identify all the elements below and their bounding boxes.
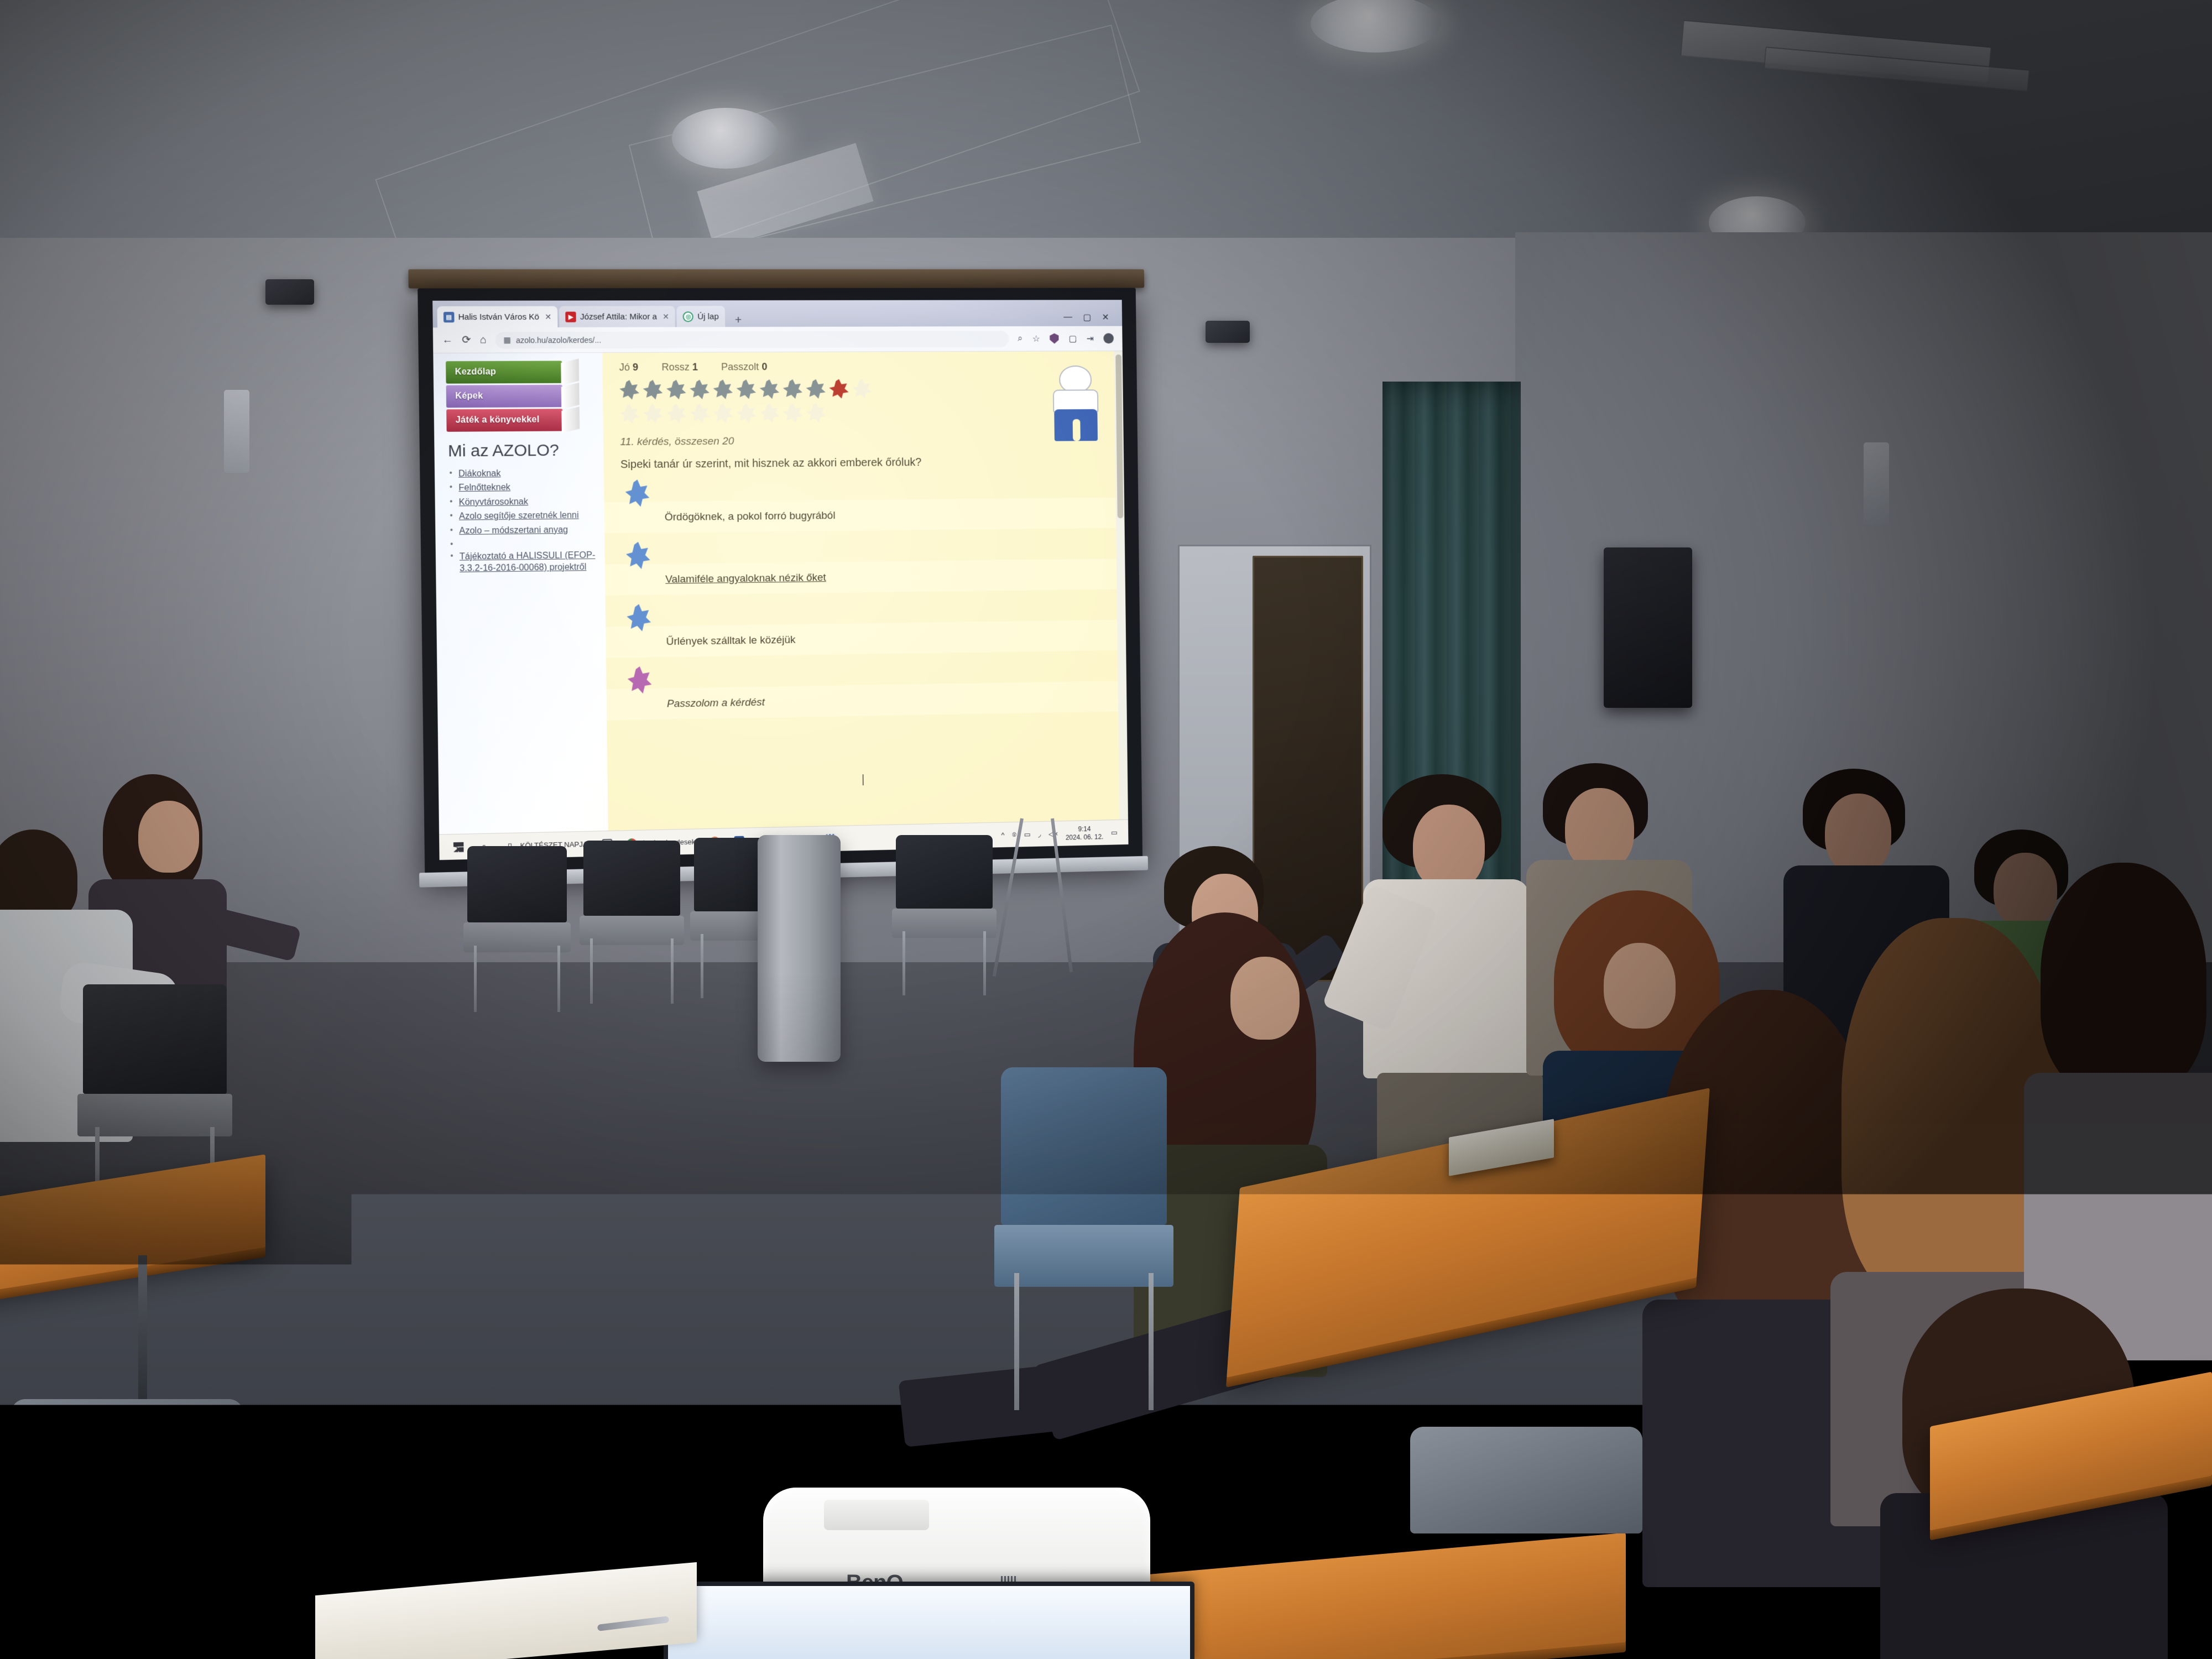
empty-chair[interactable] <box>896 835 993 995</box>
tab-title: Halis István Város Kö <box>458 312 540 321</box>
table-leg <box>138 1255 147 1399</box>
answer-text: Űrlények szálltak le közéjük <box>666 634 795 648</box>
book-stack-logo: Kezdőlap Képek Játék a könyvekkel <box>446 361 581 433</box>
list-item: Diákoknak <box>447 468 596 481</box>
progress-peg-good <box>690 380 710 400</box>
wall-sconce <box>1864 442 1889 525</box>
projection-screen: ▤ Halis István Város Kö ✕ ▶ József Attil… <box>418 279 1143 896</box>
answer-option-2[interactable]: Valamiféle angyaloknak nézik őket <box>622 535 1109 602</box>
close-icon[interactable]: ✕ <box>662 312 669 321</box>
list-item: Könyvtárosoknak <box>447 496 596 509</box>
score-passed: Passzolt 0 <box>721 361 767 373</box>
progress-peg-none <box>620 404 640 424</box>
projector-vent <box>824 1500 929 1530</box>
laptop-screen <box>664 1582 1194 1659</box>
question-counter: 11. kérdés, összesen 20 <box>620 433 1107 448</box>
wall-projector-mount <box>265 279 314 305</box>
sidebar-link[interactable]: Azolo segítője szeretnék lenni <box>459 511 579 521</box>
close-button[interactable]: ✕ <box>1102 312 1109 323</box>
bluetooth-icon[interactable]: ⌾ <box>1012 830 1016 839</box>
progress-peg-good <box>713 379 733 399</box>
nav-kezdolap[interactable]: Kezdőlap <box>446 361 562 383</box>
mascot-illustration <box>1045 366 1105 442</box>
tab-title: József Attila: Mikor a <box>580 312 657 321</box>
nav-label: Képek <box>455 392 483 401</box>
list-item: Felnőtteknek <box>447 482 596 494</box>
sidebar-link-project[interactable]: Tájékoztató a HALISSULI (EFOP-3.3.2-16-2… <box>460 551 596 573</box>
browser-tab-1[interactable]: ▤ Halis István Város Kö ✕ <box>437 306 557 328</box>
score-bad: Rossz 1 <box>661 362 698 373</box>
spacer <box>448 539 597 549</box>
chair-foreground-left[interactable] <box>11 1399 243 1659</box>
progress-peg-none <box>690 404 711 424</box>
new-tab-icon: ◎ <box>683 311 693 322</box>
progress-peg-none <box>806 403 826 423</box>
progress-peg-none <box>713 403 734 423</box>
wall-sconce <box>224 390 249 473</box>
scrollbar-thumb[interactable] <box>1115 354 1123 518</box>
window-controls: — ▢ ✕ <box>1063 312 1118 326</box>
bookmark-star-icon[interactable]: ☆ <box>1032 333 1040 344</box>
tab-title: Új lap <box>697 312 719 321</box>
score-passed-value: 0 <box>761 361 767 372</box>
quiz-panel: Jó 9 Rossz 1 Passzolt 0 <box>602 351 1128 831</box>
progress-peg-good <box>666 380 687 400</box>
wall-projector-mount <box>1206 321 1250 343</box>
text-cursor-icon <box>863 774 864 785</box>
collections-icon[interactable]: ▢ <box>1068 333 1077 344</box>
ceiling-light <box>672 108 780 169</box>
door-panel <box>1253 556 1363 982</box>
sidebar-heading: Mi az AZOLO? <box>448 441 596 461</box>
progress-peg-none <box>760 403 780 423</box>
reload-icon[interactable]: ⟳ <box>462 333 471 346</box>
projected-desktop: ▤ Halis István Város Kö ✕ ▶ József Attil… <box>432 300 1128 860</box>
score-good: Jó 9 <box>619 362 639 373</box>
mascot-head <box>1059 366 1092 393</box>
classroom-scene: ▤ Halis István Város Kö ✕ ▶ József Attil… <box>0 0 2212 1659</box>
answer-option-1[interactable]: Ördögöknek, a pokol forró bugyrából <box>620 473 1108 540</box>
answer-text: Ördögöknek, a pokol forró bugyrából <box>665 510 836 524</box>
list-item: Tájékoztató a HALISSULI (EFOP-3.3.2-16-2… <box>448 550 597 575</box>
screen-valance <box>408 269 1144 289</box>
shield-icon[interactable] <box>1050 333 1059 344</box>
taskbar-clock[interactable]: 9:14 2024. 06. 12. <box>1066 825 1104 841</box>
book-page-edge <box>561 359 579 385</box>
clock-time: 9:14 <box>1078 825 1091 833</box>
progress-peg-good <box>760 379 780 399</box>
new-tab-button[interactable]: + <box>730 314 747 327</box>
wifi-icon[interactable]: ◞ <box>1038 830 1041 838</box>
browser-tab-3[interactable]: ◎ Új lap <box>677 306 725 327</box>
profile-icon[interactable] <box>1103 333 1114 343</box>
progress-peg-none <box>852 379 872 399</box>
site-info-icon: ▦ <box>503 335 511 345</box>
sidebar-link[interactable]: Diákoknak <box>458 469 501 479</box>
share-icon[interactable]: ⇥ <box>1087 333 1094 344</box>
book-page-edge <box>561 383 580 409</box>
sidebar-link[interactable]: Azolo – módszertani anyag <box>459 525 568 536</box>
site-sidebar: Kezdőlap Képek Játék a könyvekkel <box>433 353 608 834</box>
book-page-edge <box>561 406 580 433</box>
empty-chair[interactable] <box>583 841 680 1004</box>
back-icon[interactable]: ← <box>442 334 453 346</box>
youtube-icon: ▶ <box>565 311 576 322</box>
progress-peg-none <box>737 403 757 423</box>
nav-label: Játék a könyvekkel <box>456 415 540 425</box>
browser-tab-2[interactable]: ▶ József Attila: Mikor a ✕ <box>559 306 675 327</box>
nav-kepek[interactable]: Képek <box>446 385 563 408</box>
progress-peg-good <box>619 380 640 400</box>
progress-peg-none <box>666 404 687 424</box>
progress-peg-row <box>619 379 880 424</box>
zoom-icon[interactable]: ⌕ <box>1018 333 1022 343</box>
browser-toolbar: ⌕ ☆ ▢ ⇥ <box>1018 333 1114 344</box>
windows-logo-icon <box>453 842 464 852</box>
maximize-button[interactable]: ▢ <box>1083 312 1091 323</box>
webpage-body: Kezdőlap Képek Játék a könyvekkel <box>433 351 1128 834</box>
document-icon: ▤ <box>444 311 455 322</box>
home-icon[interactable]: ⌂ <box>480 334 487 346</box>
room-column <box>758 835 841 1062</box>
minimize-button[interactable]: — <box>1063 312 1072 322</box>
nav-label: Kezdőlap <box>455 367 497 378</box>
answer-text: Passzolom a kérdést <box>667 697 765 711</box>
chevron-up-icon[interactable]: ^ <box>1001 831 1004 839</box>
address-bar[interactable]: ▦ azolo.hu/azolo/kerdes/... <box>495 330 1009 348</box>
score-bar: Jó 9 Rossz 1 Passzolt 0 <box>619 360 1107 373</box>
progress-peg-good <box>643 380 663 400</box>
answer-text: Valamiféle angyaloknak nézik őket <box>665 572 826 586</box>
progress-peg-bad <box>829 379 849 399</box>
close-icon[interactable]: ✕ <box>545 312 551 321</box>
answer-list: Ördögöknek, a pokol forró bugyrából Vala… <box>620 473 1110 727</box>
score-good-value: 9 <box>633 362 638 373</box>
sidebar-link[interactable]: Könyvtárosoknak <box>459 497 529 507</box>
progress-peg-none <box>783 403 803 423</box>
answer-option-3[interactable]: Űrlények szálltak le közéjük <box>622 596 1110 664</box>
clock-date: 2024. 06. 12. <box>1066 833 1103 841</box>
answer-option-pass[interactable]: Passzolom a kérdést <box>623 657 1110 727</box>
battery-icon[interactable]: ▭ <box>1024 830 1031 839</box>
question-text: Sipeki tanár úr szerint, mit hisznek az … <box>620 454 1108 472</box>
notification-icon[interactable]: ▭ <box>1111 828 1118 837</box>
browser-nav-bar: ← ⟳ ⌂ ▦ azolo.hu/azolo/kerdes/... ⌕ ☆ ▢ … <box>433 326 1123 353</box>
list-item: Azolo segítője szeretnék lenni <box>447 510 596 523</box>
nav-jatek-a-konyvekkel[interactable]: Játék a könyvekkel <box>446 409 563 432</box>
sidebar-link[interactable]: Felnőtteknek <box>458 483 510 493</box>
screen-frame: ▤ Halis István Város Kö ✕ ▶ József Attil… <box>418 288 1142 877</box>
mascot-pants <box>1054 409 1098 441</box>
score-bad-value: 1 <box>692 362 698 373</box>
progress-peg-none <box>643 404 664 424</box>
progress-peg-good <box>736 379 756 399</box>
wall-speaker <box>1604 547 1692 708</box>
sidebar-link-list: Diákoknak Felnőtteknek Könyvtárosoknak A… <box>447 468 597 575</box>
url-text: azolo.hu/azolo/kerdes/... <box>516 335 601 345</box>
empty-chair[interactable] <box>467 846 567 1012</box>
chair-bottom-right[interactable] <box>1410 1427 1642 1659</box>
browser-tab-strip: ▤ Halis István Város Kö ✕ ▶ József Attil… <box>432 300 1122 327</box>
list-item: Azolo – módszertani anyag <box>448 524 597 537</box>
progress-peg-good <box>806 379 826 399</box>
chair-blue-center[interactable] <box>1001 1067 1167 1410</box>
progress-peg-good <box>782 379 802 399</box>
